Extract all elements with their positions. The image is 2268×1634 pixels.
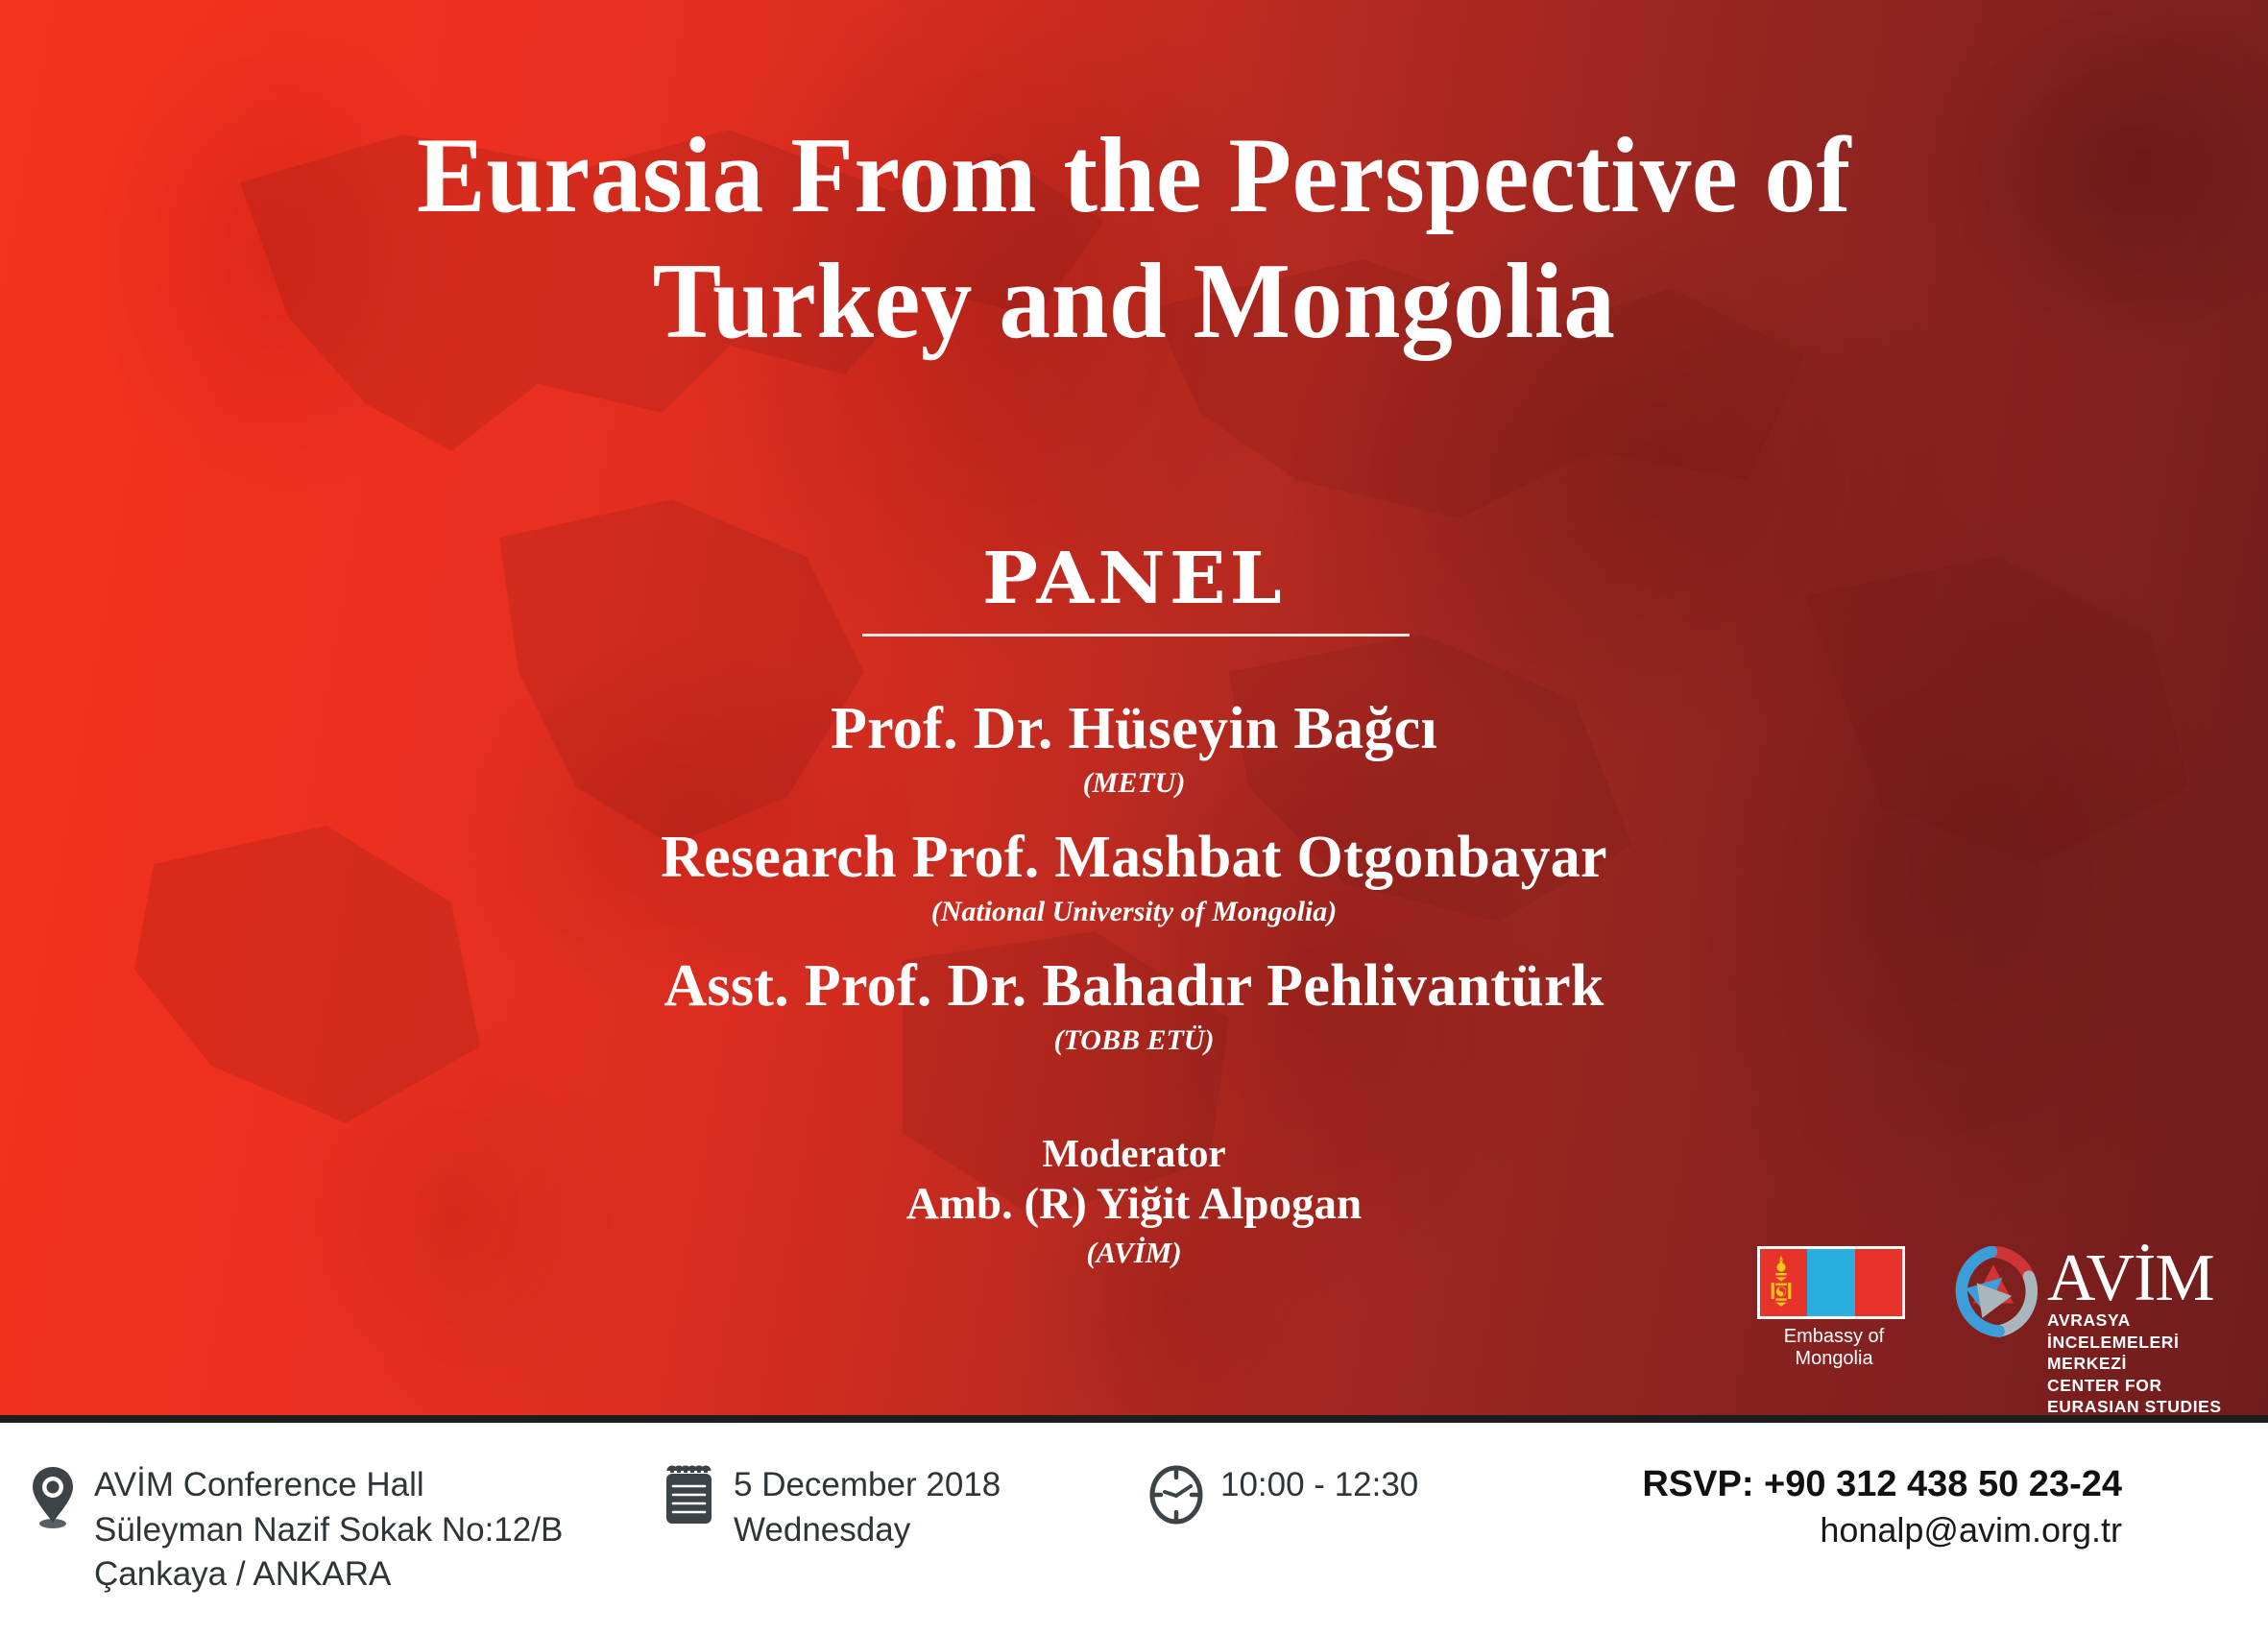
logo-row: Embassy of Mongolia AVİM AVRASYA İNCELEM… bbox=[1757, 1246, 2247, 1400]
moderator-name: Amb. (R) Yiğit Alpogan bbox=[0, 1177, 2268, 1232]
calendar-notepad-icon bbox=[663, 1463, 718, 1526]
poster-title: Eurasia From the Perspective of Turkey a… bbox=[45, 113, 2223, 365]
location-line-3: Çankaya / ANKARA bbox=[94, 1552, 563, 1598]
avim-logo: AVİM AVRASYA İNCELEMELERİ MERKEZİ CENTER… bbox=[1945, 1246, 2247, 1415]
avim-wordmark-block: AVİM AVRASYA İNCELEMELERİ MERKEZİ CENTER… bbox=[2047, 1246, 2247, 1415]
speaker-name: Prof. Dr. Hüseyin Bağcı bbox=[0, 697, 2268, 761]
location-line-2: Süleyman Nazif Sokak No:12/B bbox=[94, 1508, 563, 1553]
speaker-affiliation: (TOBB ETÜ) bbox=[0, 1019, 2268, 1062]
footer-info-bar: AVİM Conference Hall Süleyman Nazif Soka… bbox=[0, 1423, 2268, 1634]
avim-emblem-icon bbox=[1945, 1246, 2038, 1338]
clock-icon bbox=[1147, 1463, 1205, 1526]
moderator-label: Moderator bbox=[0, 1129, 2268, 1177]
rsvp-phone: RSVP: +90 312 438 50 23-24 bbox=[1584, 1461, 2122, 1508]
flag-band-red-right bbox=[1855, 1249, 1902, 1316]
panel-heading: PANEL bbox=[0, 538, 2268, 620]
footer-date-text: 5 December 2018 Wednesday bbox=[734, 1463, 1001, 1552]
title-line-1: Eurasia From the Perspective of bbox=[45, 113, 2223, 239]
date-line-1: 5 December 2018 bbox=[734, 1463, 1001, 1508]
date-line-2: Wednesday bbox=[734, 1508, 1001, 1553]
speaker-name: Asst. Prof. Dr. Bahadır Pehlivantürk bbox=[0, 954, 2268, 1019]
speaker-affiliation: (METU) bbox=[0, 761, 2268, 805]
embassy-of-mongolia-logo: Embassy of Mongolia bbox=[1757, 1246, 1911, 1370]
speaker-item: Prof. Dr. Hüseyin Bağcı (METU) bbox=[0, 697, 2268, 805]
map-pin-icon bbox=[27, 1463, 79, 1532]
mongolia-flag-icon bbox=[1757, 1246, 1905, 1319]
location-line-1: AVİM Conference Hall bbox=[94, 1463, 563, 1508]
footer-rsvp: RSVP: +90 312 438 50 23-24 honalp@avim.o… bbox=[1584, 1461, 2122, 1552]
speaker-name: Research Prof. Mashbat Otgonbayar bbox=[0, 826, 2268, 890]
footer-location: AVİM Conference Hall Süleyman Nazif Soka… bbox=[27, 1463, 563, 1598]
speaker-affiliation: (National University of Mongolia) bbox=[0, 890, 2268, 933]
footer-date: 5 December 2018 Wednesday bbox=[663, 1463, 1001, 1552]
soyombo-symbol-icon bbox=[1769, 1255, 1794, 1310]
footer-time: 10:00 - 12:30 bbox=[1147, 1463, 1418, 1526]
section-divider bbox=[0, 1415, 2268, 1423]
flag-band-blue bbox=[1807, 1249, 1854, 1316]
embassy-caption-line-1: Embassy of bbox=[1757, 1326, 1911, 1348]
hero-panel: Eurasia From the Perspective of Turkey a… bbox=[0, 0, 2268, 1415]
embassy-caption: Embassy of Mongolia bbox=[1757, 1326, 1911, 1370]
event-poster: Eurasia From the Perspective of Turkey a… bbox=[0, 0, 2268, 1634]
speaker-item: Research Prof. Mashbat Otgonbayar (Natio… bbox=[0, 826, 2268, 933]
avim-tagline-tr: AVRASYA İNCELEMELERİ MERKEZİ bbox=[2047, 1310, 2247, 1374]
speaker-item: Asst. Prof. Dr. Bahadır Pehlivantürk (TO… bbox=[0, 954, 2268, 1062]
title-line-2: Turkey and Mongolia bbox=[45, 239, 2223, 365]
avim-wordmark: AVİM bbox=[2047, 1248, 2247, 1310]
panel-divider-rule bbox=[862, 634, 1410, 637]
embassy-caption-line-2: Mongolia bbox=[1757, 1348, 1911, 1370]
avim-tagline-en: CENTER FOR EURASIAN STUDIES bbox=[2047, 1375, 2247, 1415]
speakers-list: Prof. Dr. Hüseyin Bağcı (METU) Research … bbox=[0, 697, 2268, 1062]
footer-location-text: AVİM Conference Hall Süleyman Nazif Soka… bbox=[94, 1463, 563, 1598]
footer-time-text: 10:00 - 12:30 bbox=[1220, 1463, 1418, 1508]
rsvp-email[interactable]: honalp@avim.org.tr bbox=[1584, 1508, 2122, 1553]
time-line-1: 10:00 - 12:30 bbox=[1220, 1463, 1418, 1508]
